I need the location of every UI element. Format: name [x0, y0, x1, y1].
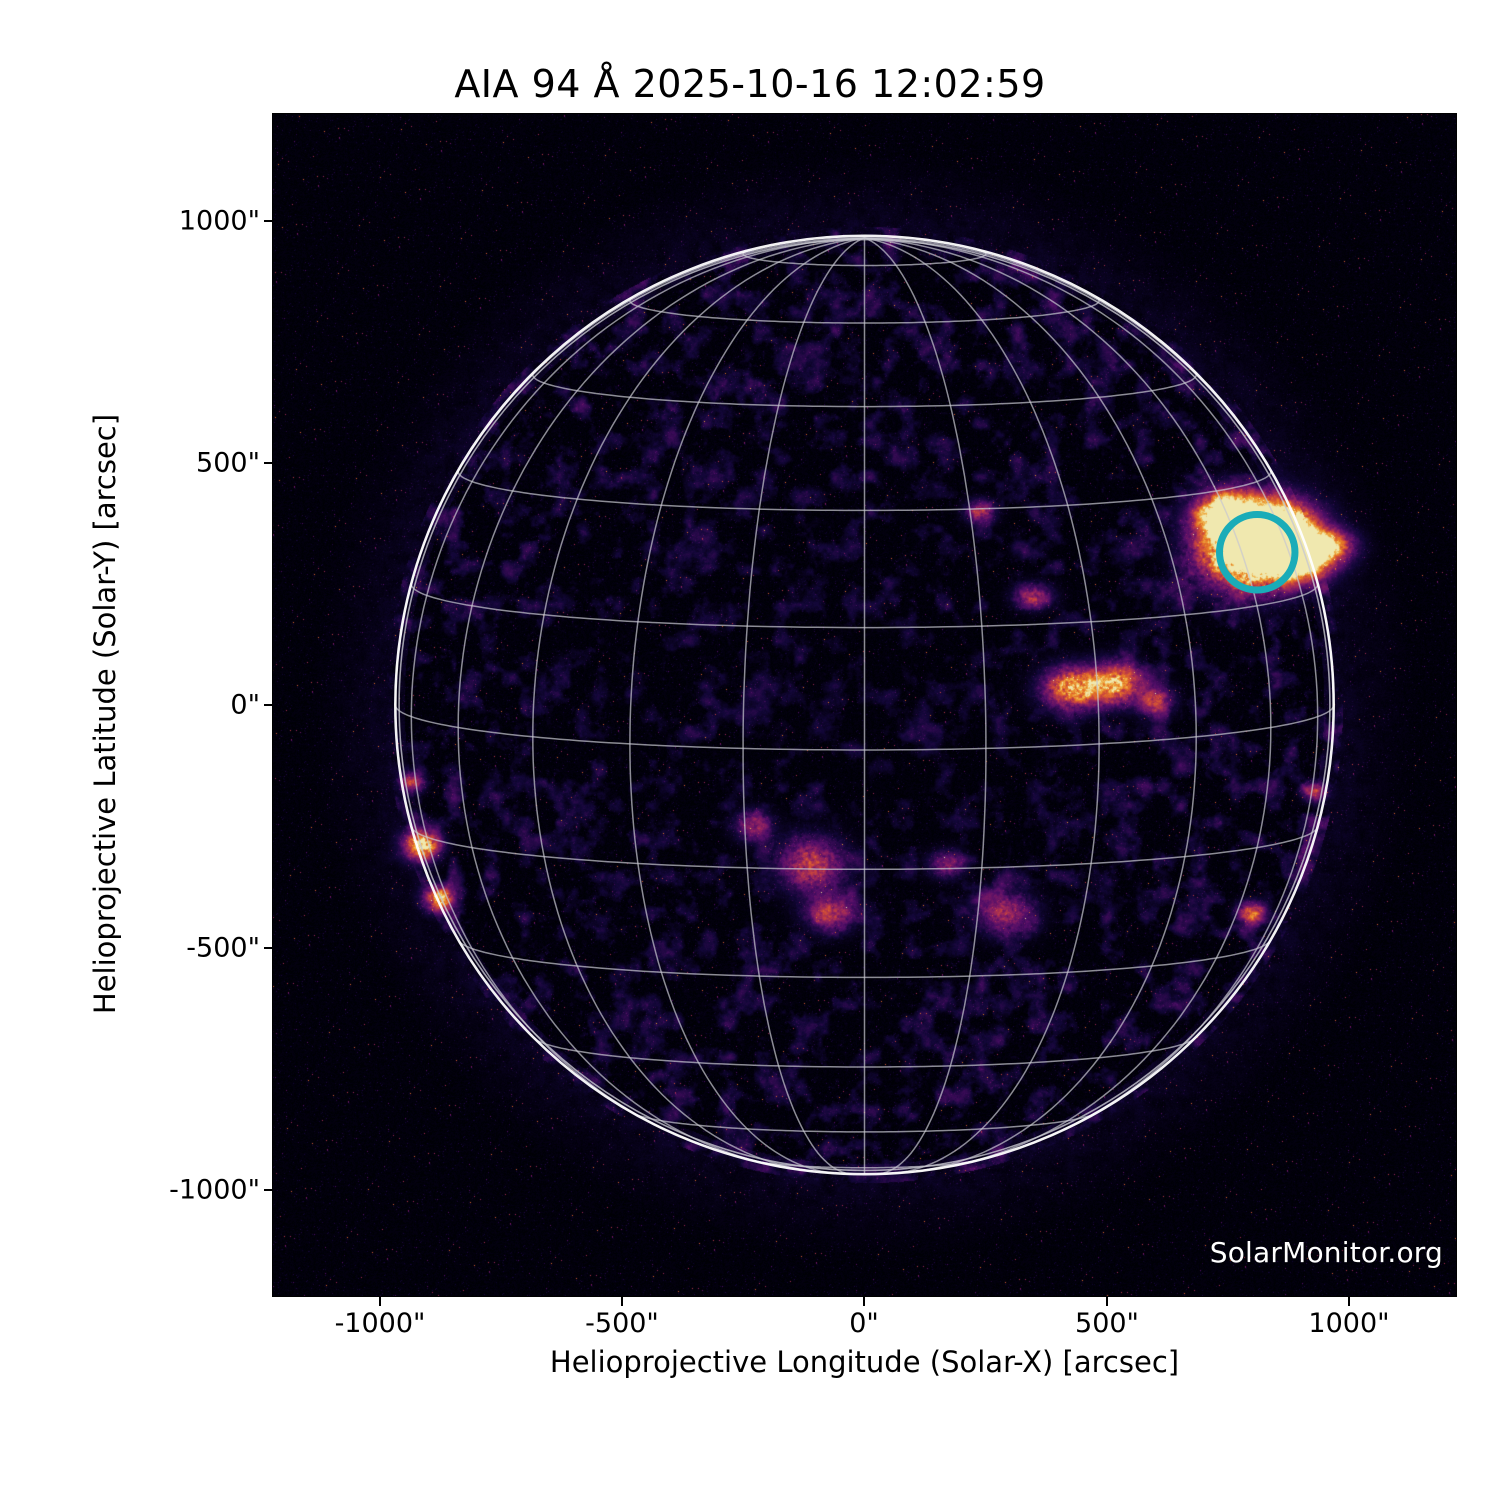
- x-tick-mark: [1348, 1297, 1350, 1306]
- page-title: AIA 94 Å 2025-10-16 12:02:59: [0, 62, 1500, 106]
- x-tick-label-500: 500": [1075, 1308, 1139, 1339]
- x-tick-mark: [621, 1297, 623, 1306]
- x-tick-label-0: 0": [849, 1308, 879, 1339]
- x-tick-mark: [379, 1297, 381, 1306]
- solar-image-figure: AIA 94 Å 2025-10-16 12:02:59 Helioprojec…: [0, 0, 1500, 1500]
- y-tick-label-1000: 1000": [50, 206, 260, 237]
- y-tick-label-neg1000: -1000": [50, 1175, 260, 1206]
- x-tick-label-neg500: -500": [585, 1308, 659, 1339]
- watermark-label: SolarMonitor.org: [1210, 1236, 1443, 1269]
- x-tick-mark: [1106, 1297, 1108, 1306]
- active-region-highlight[interactable]: [1220, 515, 1295, 590]
- x-axis-label: Helioprojective Longitude (Solar-X) [arc…: [272, 1345, 1457, 1379]
- solar-disk-image: SolarMonitor.org: [272, 113, 1457, 1297]
- y-tick-label-0: 0": [50, 690, 260, 721]
- x-tick-label-1000: 1000": [1308, 1308, 1389, 1339]
- x-tick-mark: [863, 1297, 865, 1306]
- y-tick-label-500: 500": [50, 448, 260, 479]
- active-region-annotation-layer: [272, 113, 1457, 1297]
- x-tick-label-neg1000: -1000": [335, 1308, 426, 1339]
- y-tick-label-neg500: -500": [50, 933, 260, 964]
